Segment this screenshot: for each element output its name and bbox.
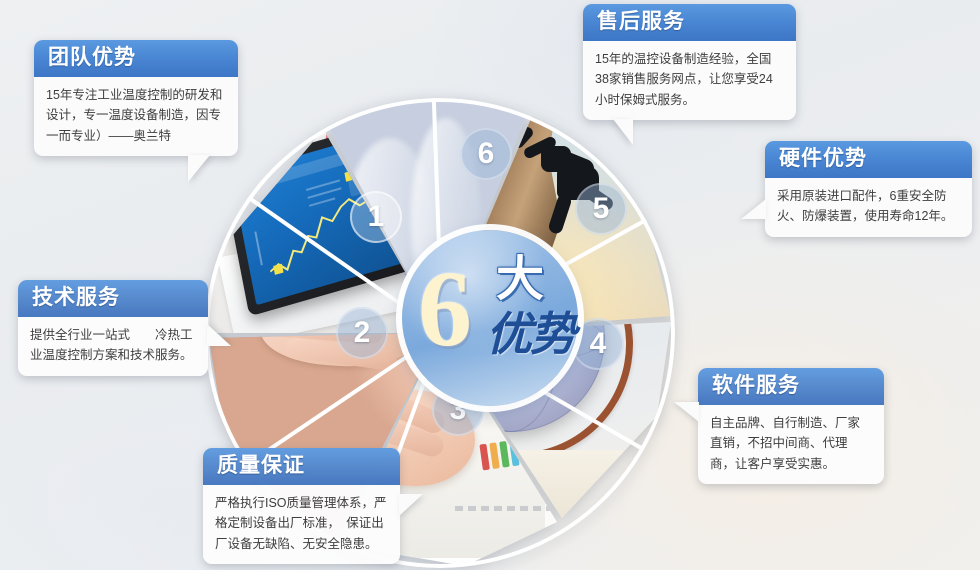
callout-tail	[741, 199, 766, 219]
card-body-software: 自主品牌、自行制造、厂家直销，不招中间商、代理商，让客户享受实惠。	[698, 405, 884, 484]
hub-char-da: 大	[496, 256, 544, 304]
callout-tail	[399, 494, 423, 516]
callout-card-team-advantage[interactable]: 团队优势 15年专注工业温度控制的研发和设计，专一温度设备制造，因专一而专业）—…	[34, 40, 238, 156]
center-hub-circle[interactable]: 6 大 优势	[402, 230, 578, 406]
card-body-after-sales: 15年的温控设备制造经验，全国38家销售服务网点，让您享受24小时保姆式服务。	[583, 41, 796, 120]
callout-tail	[674, 402, 699, 422]
card-title-technical: 技术服务	[18, 280, 208, 317]
card-title-software: 软件服务	[698, 368, 884, 405]
card-title-after-sales: 售后服务	[583, 4, 796, 41]
segment-number-2[interactable]: 2	[336, 307, 388, 359]
callout-card-hardware[interactable]: 硬件优势 采用原装进口配件，6重安全防火、防爆装置，使用寿命12年。	[765, 141, 972, 237]
hub-script-youshi: 优势	[486, 312, 574, 358]
card-title-hardware: 硬件优势	[765, 141, 972, 178]
callout-card-software[interactable]: 软件服务 自主品牌、自行制造、厂家直销，不招中间商、代理商，让客户享受实惠。	[698, 368, 884, 484]
segment-number-1[interactable]: 1	[350, 191, 402, 243]
card-title-team: 团队优势	[34, 40, 238, 77]
infographic-canvas: 1 2 3 4 5 6 6 大 优势 团队优势 15年专注工业温度控制的研发和设…	[0, 0, 980, 570]
hub-text-group: 6 大 优势	[402, 230, 578, 406]
hub-number-six: 6	[418, 256, 472, 364]
callout-tail	[188, 155, 210, 182]
segment-number-6[interactable]: 6	[460, 128, 512, 180]
segment-number-4[interactable]: 4	[572, 318, 624, 370]
callout-card-after-sales[interactable]: 售后服务 15年的温控设备制造经验，全国38家销售服务网点，让您享受24小时保姆…	[583, 4, 796, 120]
card-body-hardware: 采用原装进口配件，6重安全防火、防爆装置，使用寿命12年。	[765, 178, 972, 237]
segment-number-5[interactable]: 5	[575, 183, 627, 235]
callout-tail	[613, 119, 633, 145]
card-body-team: 15年专注工业温度控制的研发和设计，专一温度设备制造，因专一而专业）——奥兰特	[34, 77, 238, 156]
callout-card-quality[interactable]: 质量保证 严格执行ISO质量管理体系，严格定制设备出厂标准， 保证出厂设备无缺陷…	[203, 448, 400, 564]
card-body-technical: 提供全行业一站式 冷热工业温度控制方案和技术服务。	[18, 317, 208, 376]
card-title-quality: 质量保证	[203, 448, 400, 485]
card-body-quality: 严格执行ISO质量管理体系，严格定制设备出厂标准， 保证出厂设备无缺陷、无安全隐…	[203, 485, 400, 564]
callout-card-technical[interactable]: 技术服务 提供全行业一站式 冷热工业温度控制方案和技术服务。	[18, 280, 208, 376]
callout-tail	[207, 324, 231, 346]
